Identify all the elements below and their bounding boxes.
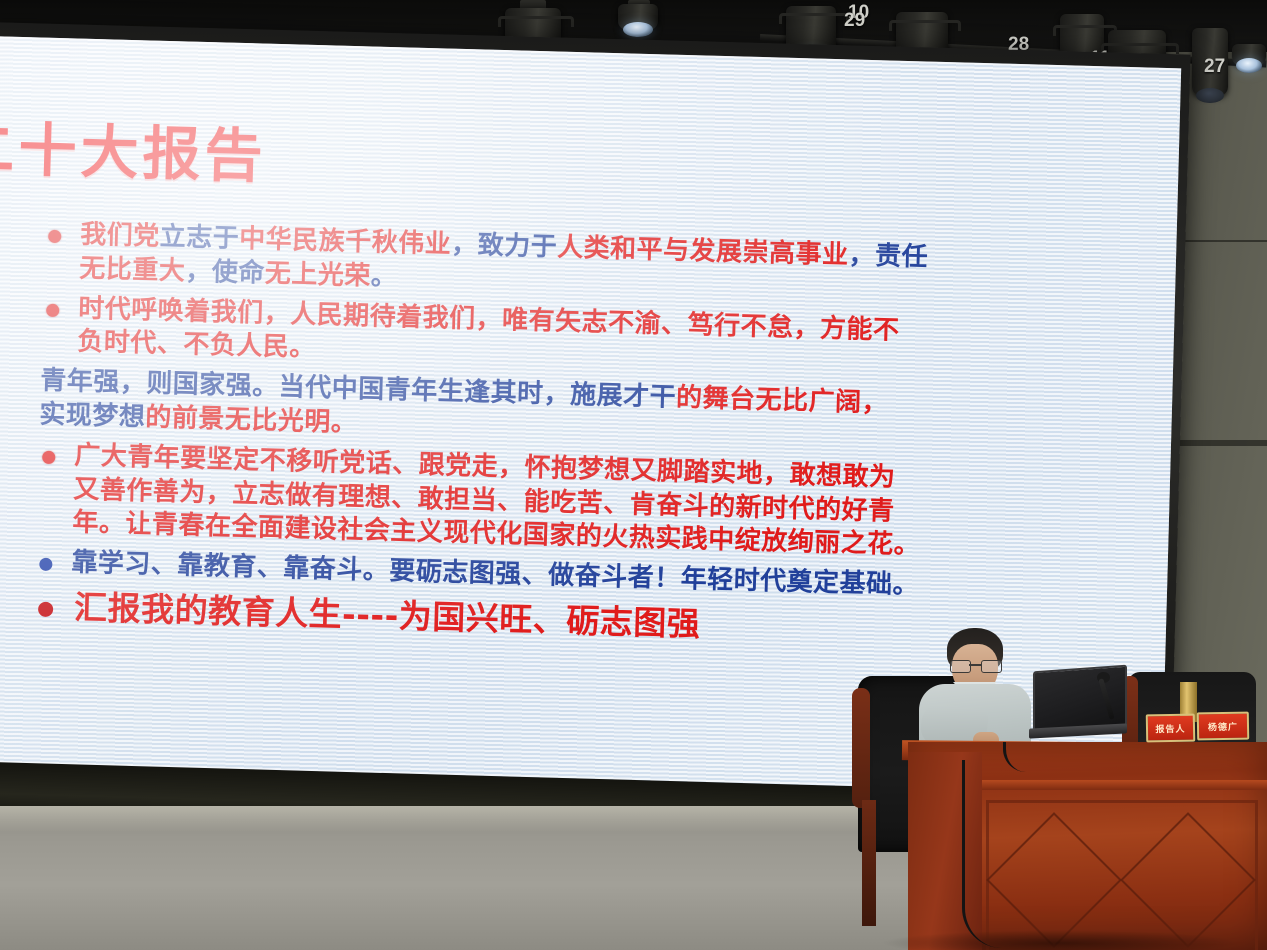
glasses-lens	[981, 660, 1002, 673]
slide-text-run: 实现梦想	[39, 400, 146, 433]
nameplate-role-text: 报告人	[1155, 721, 1185, 735]
spotlight-lens	[1236, 58, 1262, 73]
slide-body: 我们党立志于中华民族千秋伟业，致力于人类和平与发展崇高事业，责任无比重大，使命无…	[29, 218, 1060, 662]
slide-text-run: ，致力于	[451, 230, 558, 263]
nameplate-role: 报告人	[1146, 714, 1195, 743]
slide-text-run: 我们党	[80, 220, 160, 252]
nameplate-name-text: 杨德广	[1208, 719, 1238, 733]
power-cable	[962, 760, 1007, 948]
spotlight-27: 27	[1192, 28, 1228, 96]
photo-scene: 10 29 28 11 27 二十大报告 我们党	[0, 0, 1267, 950]
podium-shadow	[880, 930, 1240, 950]
slide-text-run: 负时代、不负人民。	[77, 327, 316, 363]
spotlight-yoke	[779, 13, 849, 24]
slide-text-run: ，责任	[848, 240, 928, 272]
spotlight-yoke	[889, 20, 961, 31]
spotlight-lens	[1196, 88, 1223, 103]
spotlight-f	[1232, 44, 1266, 66]
slide-text-run: 汇报我的教育人生----为国兴旺、砺志图强	[74, 588, 701, 644]
glasses-bridge	[969, 664, 981, 666]
slide-text-run: 中华民族千秋伟业	[239, 224, 452, 260]
slide-text-run: 立志于	[159, 222, 239, 254]
spotlight-number: 27	[1204, 56, 1225, 78]
spotlight-number: 29	[844, 10, 865, 32]
spotlight-yoke	[498, 16, 574, 27]
chair-left-armrest	[852, 688, 870, 808]
slide-text-run: 人类和平与发展崇高事业	[557, 233, 849, 271]
slide-text-run: 的舞台无比广阔，	[676, 383, 889, 419]
slide-title: 二十大报告	[0, 119, 267, 185]
glasses-lens	[950, 660, 971, 673]
slide-paragraph: 广大青年要坚定不移听党话、跟党走，怀抱梦想又脚踏实地，敢想敢为又善作善为，立志做…	[32, 438, 1054, 567]
bullet-marker-icon	[46, 303, 59, 316]
glasses-icon	[950, 660, 1000, 671]
slide-text-run: 无比重大	[79, 253, 186, 286]
bullet-marker-icon	[42, 450, 55, 463]
spotlight-lens	[623, 22, 653, 37]
nameplate-name: 杨德广	[1197, 712, 1249, 741]
slide-text-run: 的前景无比光明。	[145, 402, 358, 438]
spotlight-b	[618, 4, 658, 30]
slide-text-run: 。	[370, 261, 397, 292]
slide-text-run: 无上光荣	[264, 258, 371, 291]
slide-text-run: ，使命	[185, 256, 265, 288]
chair-leg	[862, 800, 876, 926]
slide-bullet-item: 广大青年要坚定不移听党话、跟党走，怀抱梦想又脚踏实地，敢想敢为又善作善为，立志做…	[32, 438, 1054, 567]
